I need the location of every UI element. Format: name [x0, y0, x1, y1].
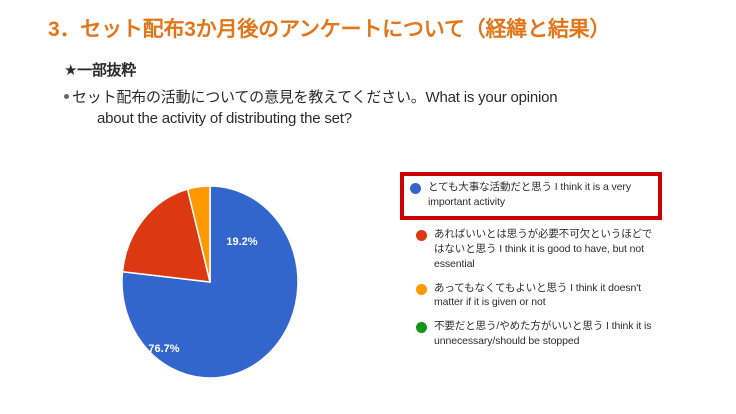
bullet-dot-icon — [64, 94, 69, 99]
legend-item-label: とても大事な活動だと思う I think it is a very import… — [428, 180, 652, 210]
pie-slice-label-blue: 76.7% — [148, 343, 179, 355]
legend-item-label: 不要だと思う/やめた方がいいと思う I think it is unnecess… — [434, 319, 654, 349]
question-line-1: セット配布の活動についての意見を教えてください。What is your opi… — [72, 89, 557, 106]
pie-chart-svg: 76.7% 19.2% — [118, 182, 302, 382]
survey-chart: 76.7% 19.2% とても大事な活動だと思う I think it is a… — [0, 160, 736, 414]
pie-chart: 76.7% 19.2% — [118, 182, 302, 382]
legend-item[interactable]: あってもなくてもよいと思う I think it doesn't matter … — [408, 279, 660, 313]
legend-color-dot-icon — [416, 284, 427, 295]
page-title: 3．セット配布3か月後のアンケートについて（経緯と結果） — [48, 17, 610, 42]
question-line-2: about the activity of distributing the s… — [75, 108, 684, 130]
legend-color-dot-icon — [416, 230, 427, 241]
body-text-block: ★一部抜粋 セット配布の活動についての意見を教えてください。What is yo… — [64, 60, 684, 130]
legend-color-dot-icon — [416, 322, 427, 333]
legend-item[interactable]: 不要だと思う/やめた方がいいと思う I think it is unnecess… — [408, 317, 660, 351]
legend-item-label: あればいいとは思うが必要不可欠というほどではないと思う I think it i… — [434, 227, 654, 272]
legend-color-dot-icon — [410, 183, 421, 194]
legend-item[interactable]: とても大事な活動だと思う I think it is a very import… — [400, 172, 662, 220]
star-note: ★一部抜粋 — [64, 60, 684, 83]
pie-slice-label-red: 19.2% — [226, 236, 257, 248]
legend-item-label: あってもなくてもよいと思う I think it doesn't matter … — [434, 281, 654, 311]
legend-item[interactable]: あればいいとは思うが必要不可欠というほどではないと思う I think it i… — [408, 225, 660, 274]
slide-canvas: 3．セット配布3か月後のアンケートについて（経緯と結果） ★一部抜粋 セット配布… — [0, 0, 736, 414]
question-bullet: セット配布の活動についての意見を教えてください。What is your opi… — [64, 87, 684, 131]
chart-legend: とても大事な活動だと思う I think it is a very import… — [408, 172, 660, 351]
